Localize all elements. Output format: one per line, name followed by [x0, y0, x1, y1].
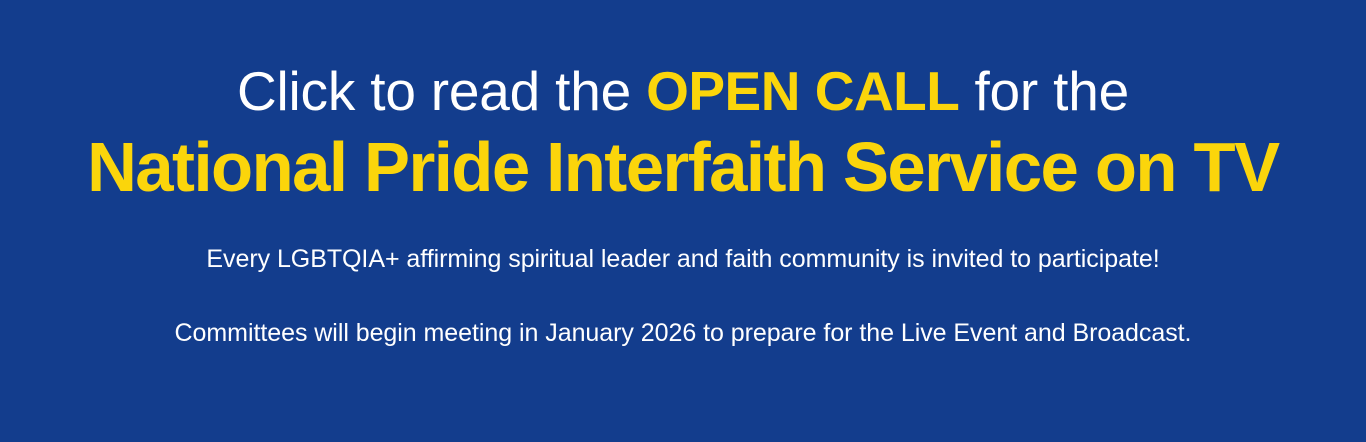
kicker-text-after: for the [959, 60, 1129, 122]
banner-kicker-line: Click to read the OPEN CALL for the [237, 62, 1129, 120]
banner-body-block: Every LGBTQIA+ affirming spiritual leade… [175, 244, 1192, 348]
banner-body-line-2: Committees will begin meeting in January… [175, 318, 1192, 348]
banner-headline: National Pride Interfaith Service on TV [87, 130, 1278, 206]
promo-banner[interactable]: Click to read the OPEN CALL for the Nati… [0, 0, 1366, 442]
kicker-text-before: Click to read the [237, 60, 646, 122]
banner-body-line-1: Every LGBTQIA+ affirming spiritual leade… [206, 244, 1159, 274]
open-call-emphasis: OPEN CALL [646, 60, 959, 122]
